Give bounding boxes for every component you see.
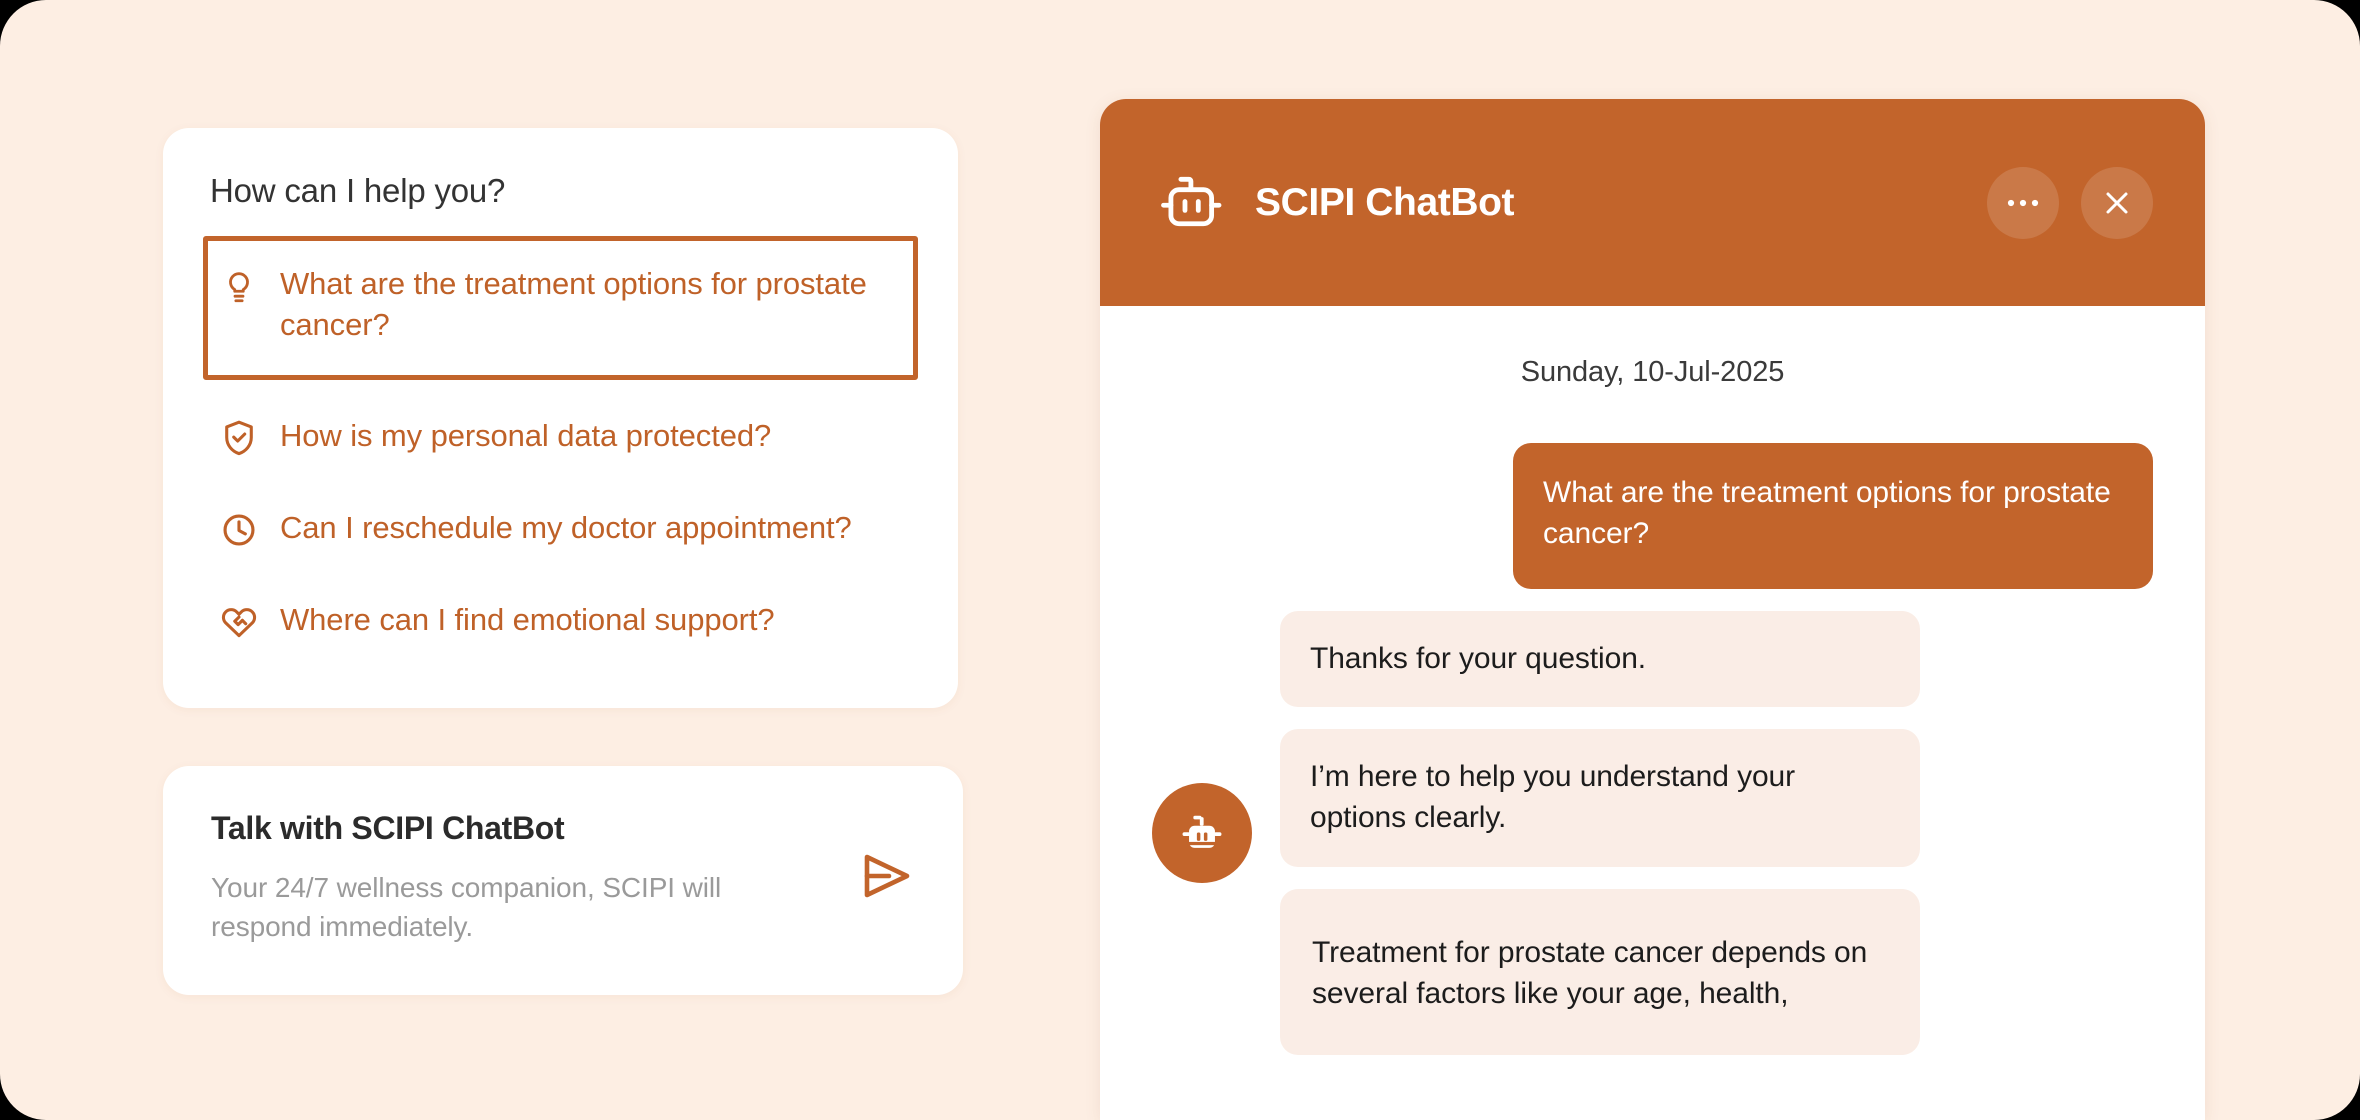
clock-icon: [220, 511, 258, 549]
suggestion-item-label: How is my personal data protected?: [280, 415, 771, 456]
suggestion-item-label: What are the treatment options for prost…: [280, 263, 897, 345]
page-title: How can I help you?: [203, 172, 918, 210]
send-icon: [861, 853, 913, 904]
more-options-button[interactable]: [1987, 167, 2059, 239]
chat-header-actions: [1987, 167, 2153, 239]
heart-handshake-icon: [220, 603, 258, 641]
lightbulb-icon: [220, 267, 258, 305]
robot-avatar-icon: [1175, 806, 1229, 860]
bot-message-bubble: Treatment for prostate cancer depends on…: [1280, 889, 1920, 1055]
suggestion-item-treatment-options[interactable]: What are the treatment options for prost…: [203, 236, 918, 380]
talk-card-subtitle: Your 24/7 wellness companion, SCIPI will…: [211, 869, 811, 946]
chat-window-title: SCIPI ChatBot: [1255, 181, 1514, 225]
send-button[interactable]: [855, 847, 919, 911]
chat-message-list[interactable]: Sunday, 10-Jul-2025 What are the treatme…: [1100, 306, 2205, 1120]
avatar: [1152, 783, 1252, 883]
suggestions-card: How can I help you? What are the treatme…: [163, 128, 958, 708]
suggestion-item-emotional-support[interactable]: Where can I find emotional support?: [203, 580, 918, 660]
robot-head-icon: [1155, 166, 1229, 240]
talk-card-title: Talk with SCIPI ChatBot: [211, 810, 811, 847]
left-column: How can I help you? What are the treatme…: [163, 128, 963, 995]
chat-header-identity: SCIPI ChatBot: [1155, 166, 1987, 240]
user-message-bubble: What are the treatment options for prost…: [1513, 443, 2153, 589]
close-button[interactable]: [2081, 167, 2153, 239]
chat-window-header: SCIPI ChatBot: [1100, 99, 2205, 306]
ellipsis-icon: [2006, 197, 2040, 209]
suggestion-item-data-protection[interactable]: How is my personal data protected?: [203, 396, 918, 476]
suggestion-item-label: Where can I find emotional support?: [280, 599, 775, 640]
bot-bubble-stack: Thanks for your question. I’m here to he…: [1280, 611, 1920, 1055]
suggestion-item-reschedule-appointment[interactable]: Can I reschedule my doctor appointment?: [203, 488, 918, 568]
chatbot-window: SCIPI ChatBot: [1100, 99, 2205, 1120]
message-row-user: What are the treatment options for prost…: [1152, 443, 2153, 589]
suggestion-item-label: Can I reschedule my doctor appointment?: [280, 507, 852, 548]
bot-message-bubble: Thanks for your question.: [1280, 611, 1920, 708]
bot-message-group: Thanks for your question. I’m here to he…: [1152, 611, 1920, 1055]
bot-message-bubble: I’m here to help you understand your opt…: [1280, 729, 1920, 867]
shield-check-icon: [220, 419, 258, 457]
chat-date-divider: Sunday, 10-Jul-2025: [1152, 356, 2153, 389]
talk-card-text: Talk with SCIPI ChatBot Your 24/7 wellne…: [211, 810, 811, 946]
close-icon: [2102, 188, 2132, 218]
message-row-bot: Thanks for your question. I’m here to he…: [1152, 611, 2153, 1055]
talk-with-chatbot-card[interactable]: Talk with SCIPI ChatBot Your 24/7 wellne…: [163, 766, 963, 994]
page-surface: How can I help you? What are the treatme…: [0, 0, 2360, 1120]
